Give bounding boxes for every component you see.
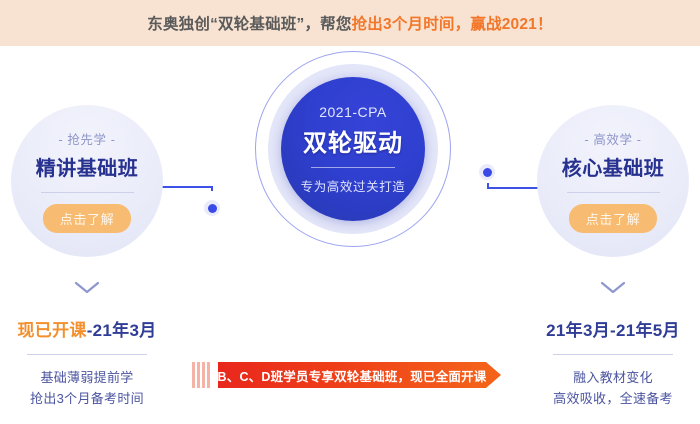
core-title: 双轮驱动: [303, 123, 403, 158]
course-card-left-title: 精讲基础班: [36, 152, 139, 181]
course-card-right-cta-button[interactable]: 点击了解: [569, 204, 657, 233]
course-card-left[interactable]: - 抢先学 - 精讲基础班 点击了解: [11, 105, 163, 257]
schedule-right-benefit-1: 融入教材变化: [508, 367, 700, 388]
course-card-right-title: 核心基础班: [562, 152, 665, 181]
connector-stub-left: [211, 186, 213, 191]
course-card-right-tag: - 高效学 -: [585, 129, 642, 148]
core-circle-badge: 2021-CPA 双轮驱动 专为高效过关打造: [281, 77, 425, 221]
promo-header-bar: 东奥独创“双轮基础班”，帮您抢出3个月时间，赢战2021！: [0, 0, 700, 46]
ribbon-stripes-icon: [192, 362, 210, 388]
course-card-right[interactable]: - 高效学 - 核心基础班 点击了解: [537, 105, 689, 257]
core-divider: [311, 167, 395, 168]
ribbon-body: B、C、D班学员专享双轮基础班，现已全面开课: [218, 362, 486, 388]
schedule-left-benefit-2: 抢出3个月备考时间: [0, 388, 192, 409]
promo-headline-prefix: 东奥独创“双轮基础班”，帮您: [147, 16, 351, 33]
course-card-left-tag: - 抢先学 -: [59, 129, 116, 148]
course-card-right-divider: [567, 192, 660, 193]
course-card-left-divider: [41, 192, 134, 193]
schedule-left-benefit-1: 基础薄弱提前学: [0, 367, 192, 388]
schedule-right-divider: [553, 354, 673, 355]
schedule-left-heading-date: -21年3月: [87, 321, 157, 340]
schedule-right-heading: 21年3月-21年5月: [508, 316, 700, 341]
promo-banner-canvas: 东奥独创“双轮基础班”，帮您抢出3个月时间，赢战2021！ 2021-CPA 双…: [0, 0, 700, 424]
promo-headline: 东奥独创“双轮基础班”，帮您抢出3个月时间，赢战2021！: [147, 12, 552, 34]
chevron-down-icon-left: [74, 281, 100, 294]
schedule-right-heading-date: 21年3月-21年5月: [546, 321, 680, 340]
connector-stub-right: [487, 183, 489, 188]
schedule-right-benefit-2: 高效吸收，全速备考: [508, 388, 700, 409]
core-footer-text: 专为高效过关打造: [301, 176, 406, 195]
chevron-down-icon-right: [600, 281, 626, 294]
schedule-column-right: 21年3月-21年5月 融入教材变化 高效吸收，全速备考: [508, 316, 700, 409]
ribbon-arrow-tip-icon: [486, 362, 501, 388]
course-card-left-cta-button[interactable]: 点击了解: [43, 204, 131, 233]
schedule-left-heading: 现已开课-21年3月: [0, 316, 192, 341]
schedule-left-divider: [27, 354, 147, 355]
promo-headline-highlight: 抢出3个月时间，赢战2021！: [352, 16, 553, 33]
schedule-column-left: 现已开课-21年3月 基础薄弱提前学 抢出3个月备考时间: [0, 316, 192, 409]
connector-dot-left-icon: [204, 200, 220, 216]
schedule-left-heading-highlight: 现已开课: [17, 321, 86, 340]
ribbon-text: B、C、D班学员专享双轮基础班，现已全面开课: [218, 366, 487, 385]
core-subtitle: 2021-CPA: [319, 104, 387, 120]
connector-dot-right-icon: [479, 164, 495, 180]
